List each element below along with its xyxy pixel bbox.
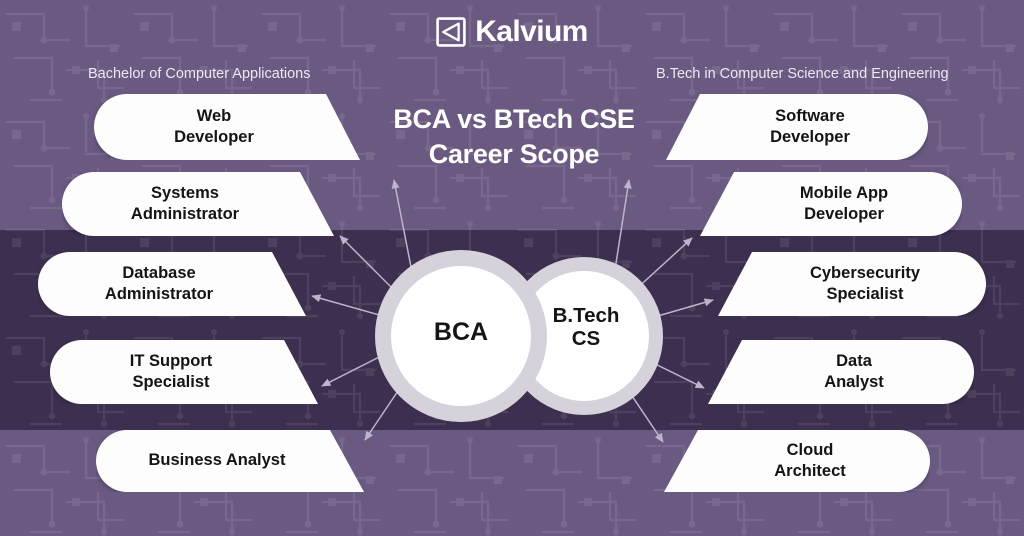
- career-pill-mobile-app-developer[interactable]: Mobile App Developer: [700, 172, 962, 236]
- btech-circle-label: B.Tech CS: [534, 305, 638, 351]
- career-pill-label: Systems Administrator: [131, 183, 265, 225]
- career-pill-line-1: Business Analyst: [149, 450, 286, 471]
- career-pill-line-1: Cloud: [774, 440, 846, 461]
- career-pill-label: Cloud Architect: [748, 440, 846, 482]
- career-pill-label: Cybersecurity Specialist: [784, 263, 920, 305]
- career-pill-line-1: Database: [105, 263, 213, 284]
- career-pill-label: Software Developer: [744, 106, 850, 148]
- career-pill-line-2: Developer: [770, 127, 850, 148]
- career-pill-label: Web Developer: [174, 106, 280, 148]
- career-pill-web-developer[interactable]: Web Developer: [94, 94, 360, 160]
- career-pill-label: Database Administrator: [105, 263, 239, 305]
- career-pill-label: Business Analyst: [149, 450, 312, 471]
- career-pill-line-1: Web: [174, 106, 254, 127]
- career-pill-line-2: Architect: [774, 461, 846, 482]
- btech-label-line-1: B.Tech: [534, 305, 638, 328]
- btech-label-line-2: CS: [534, 328, 638, 351]
- career-pill-business-analyst[interactable]: Business Analyst: [96, 430, 364, 492]
- career-pill-line-2: Specialist: [130, 372, 212, 393]
- infographic-canvas: Kalvium Bachelor of Computer Application…: [0, 0, 1024, 536]
- career-pill-line-1: Software: [770, 106, 850, 127]
- career-pill-line-2: Administrator: [131, 204, 239, 225]
- career-pill-it-support-specialist[interactable]: IT Support Specialist: [50, 340, 318, 404]
- bca-circle-label: BCA: [398, 318, 524, 346]
- career-pill-data-analyst[interactable]: Data Analyst: [708, 340, 974, 404]
- career-pill-line-1: Cybersecurity: [810, 263, 920, 284]
- career-pill-line-2: Specialist: [810, 284, 920, 305]
- career-pill-line-2: Analyst: [824, 372, 884, 393]
- career-pill-line-1: Mobile App: [800, 183, 888, 204]
- career-pill-line-1: Systems: [131, 183, 239, 204]
- career-pill-database-administrator[interactable]: Database Administrator: [38, 252, 306, 316]
- career-pill-software-developer[interactable]: Software Developer: [666, 94, 928, 160]
- career-pill-line-1: Data: [824, 351, 884, 372]
- career-pill-line-1: IT Support: [130, 351, 212, 372]
- career-pill-line-2: Administrator: [105, 284, 213, 305]
- career-pill-label: IT Support Specialist: [130, 351, 238, 393]
- career-pill-cloud-architect[interactable]: Cloud Architect: [664, 430, 930, 492]
- career-pill-line-2: Developer: [800, 204, 888, 225]
- career-pill-cybersecurity-specialist[interactable]: Cybersecurity Specialist: [718, 252, 986, 316]
- career-pill-line-2: Developer: [174, 127, 254, 148]
- career-pill-systems-administrator[interactable]: Systems Administrator: [62, 172, 334, 236]
- career-pill-label: Data Analyst: [798, 351, 884, 393]
- career-pill-label: Mobile App Developer: [774, 183, 888, 225]
